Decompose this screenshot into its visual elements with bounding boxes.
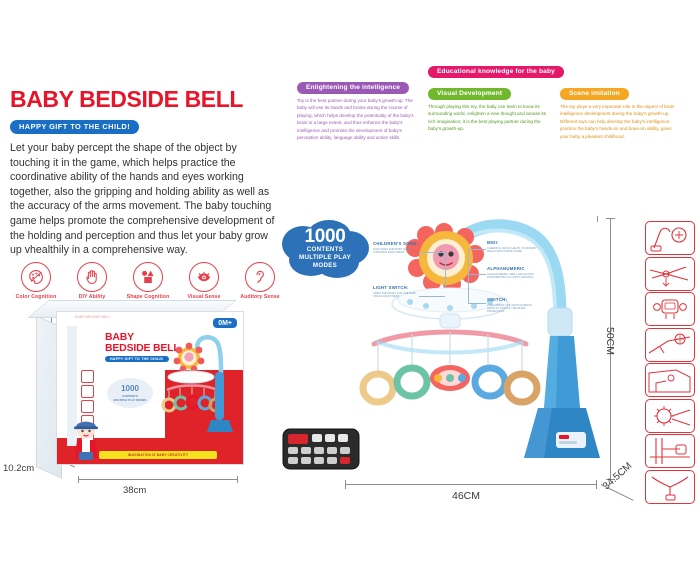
callout-title: CHILDREN'S SONG: [373, 241, 419, 247]
callout-title: LIGHT SWITCH: [373, 285, 419, 291]
package-depth-label: 10.2cm [3, 463, 34, 474]
box-icon-1 [81, 370, 94, 383]
box-bottom-banner: IMAGINATION IS BABY CREATIVITY [99, 451, 217, 459]
package-width-label: 38cm [123, 485, 146, 496]
box-cloud-number: 1000 [107, 378, 153, 395]
assembly-step-1 [645, 221, 695, 255]
box-age-badge: 0M+ [213, 318, 237, 328]
box-mobile-illustration [153, 328, 239, 446]
product-height-label: 50CM [604, 327, 616, 355]
educational-banner-pill: Educational knowledge for the baby [428, 66, 564, 78]
assembly-step-2 [645, 257, 695, 291]
feature-diy-ability: DIY Ability [64, 262, 120, 300]
assembly-step-4 [645, 328, 695, 362]
box-contents-badge: 1000 CONTENTS MULTIPLE PLAY MODES [107, 378, 153, 408]
assembly-step-8 [645, 470, 695, 504]
dimension-leader [597, 216, 598, 222]
product-width-label: 46CM [452, 490, 480, 502]
box-icon-3 [81, 400, 94, 413]
educational-banner-block: Educational knowledge for the baby [428, 60, 564, 78]
enlightening-text: Toy is the best partner during your baby… [297, 97, 417, 142]
box-front-panel: BABY BEDSIDE BELL BABY BEDSIDE BELL HAPP… [56, 311, 244, 465]
enlightening-pill: Enlightening the intelligence [297, 82, 409, 94]
callout-leader-line [445, 252, 446, 288]
visual-development-block: Visual Development Through playing this … [428, 82, 548, 133]
assembly-step-6 [645, 399, 695, 433]
feature-color-cognition: Color Cognition [8, 262, 64, 300]
callout-midi: MIDI: CHEERFUL MUSIC HELPS YOUR BABY REL… [487, 240, 539, 253]
package-box-figure: 31cm 38cm 10.2cm BABY BEDSIDE BELL BABY … [18, 303, 273, 503]
shapes-icon [133, 262, 163, 292]
callout-title: ALPHANUMERIC [487, 266, 539, 272]
callout-body: NICE SONG FOR BABY HAPPY LISTENING ENJOY… [373, 248, 419, 255]
box-cloud-text-2: MULTIPLE PLAY MODES [107, 399, 153, 403]
feature-label: Auditory Sense [232, 294, 288, 300]
scene-imitation-block: Scene imitation The toy plays a very imp… [560, 82, 680, 140]
hand-icon [77, 262, 107, 292]
ear-icon [245, 262, 275, 292]
callout-leader-line [419, 252, 445, 253]
callout-title: MIDI: [487, 240, 539, 246]
assembly-instruction-column [645, 221, 693, 505]
callout-leader-line [468, 249, 486, 250]
package-box-3d: BABY BEDSIDE BELL BABY BEDSIDE BELL HAPP… [56, 311, 244, 479]
rattle-toys [363, 365, 537, 402]
product-width-line [345, 484, 597, 485]
callout-leader-line [468, 249, 469, 303]
assembly-step-7 [645, 434, 695, 468]
box-icon-2 [81, 385, 94, 398]
assembly-step-3 [645, 292, 695, 326]
callout-body: ALPHANUMERIC SPELL EDUCATION CONTRIBUTES… [487, 273, 539, 280]
visual-development-text: Through playing this toy, the baby can l… [428, 103, 548, 133]
assembly-step-5 [645, 363, 695, 397]
page-title: BABY BEDSIDE BELL [10, 88, 288, 111]
palette-icon [21, 262, 51, 292]
feature-shape-cognition: Shape Cognition [120, 262, 176, 300]
cloud-badge-line3: MODES [313, 262, 337, 270]
cloud-badge-line2: MULTIPLE PLAY [299, 254, 351, 262]
cloud-badge-number: 1000 [304, 228, 345, 246]
scene-imitation-text: The toy plays a very important role in t… [560, 103, 680, 140]
enlightening-intelligence-block: Enlightening the intelligence Toy is the… [297, 76, 417, 142]
product-tagline: HAPPY GIFT TO THE CHILD! [10, 120, 139, 134]
box-top-edge-text: BABY BEDSIDE BELL [75, 315, 110, 319]
product-mobile-illustration [352, 196, 612, 488]
callout-switch: SWITCH: LONG PRESS THE SWITCH PRESS ONCE… [487, 297, 539, 314]
scene-imitation-pill: Scene imitation [560, 88, 629, 100]
callout-leader-line [468, 274, 486, 275]
product-description: Let your baby percept the shape of the o… [10, 141, 278, 258]
product-marketing-page: BABY BEDSIDE BELL HAPPY GIFT TO THE CHIL… [0, 0, 700, 585]
cloud-badge-line1: CONTENTS [307, 246, 343, 254]
eye-icon [189, 262, 219, 292]
feature-icon-row: Color Cognition DIY Ability Shape Cognit… [8, 262, 288, 300]
callout-body: OPEN THE MUSIC FOR THE BABY VISUAL ENJOY… [373, 292, 419, 299]
callout-light-switch: LIGHT SWITCH: OPEN THE MUSIC FOR THE BAB… [373, 285, 419, 298]
callout-title: SWITCH: [487, 297, 539, 303]
callout-leader-line [419, 296, 445, 297]
product-info-column: BABY BEDSIDE BELL HAPPY GIFT TO THE CHIL… [10, 88, 288, 258]
callout-leader-line [468, 303, 486, 304]
callout-body: LONG PRESS THE SWITCH PRESS ONCE TO ROTA… [487, 304, 539, 314]
remote-control [282, 428, 360, 470]
callout-body: CHEERFUL MUSIC HELPS YOUR BABY RELAX WIT… [487, 247, 539, 254]
callout-childrens-song: CHILDREN'S SONG: NICE SONG FOR BABY HAPP… [373, 241, 419, 254]
box-child-illustration [69, 416, 103, 460]
callout-alphanumeric: ALPHANUMERIC ALPHANUMERIC SPELL EDUCATIO… [487, 266, 539, 279]
feature-visual-sense: Visual Sense [176, 262, 232, 300]
visual-development-pill: Visual Development [428, 88, 511, 100]
package-width-line [78, 479, 238, 480]
